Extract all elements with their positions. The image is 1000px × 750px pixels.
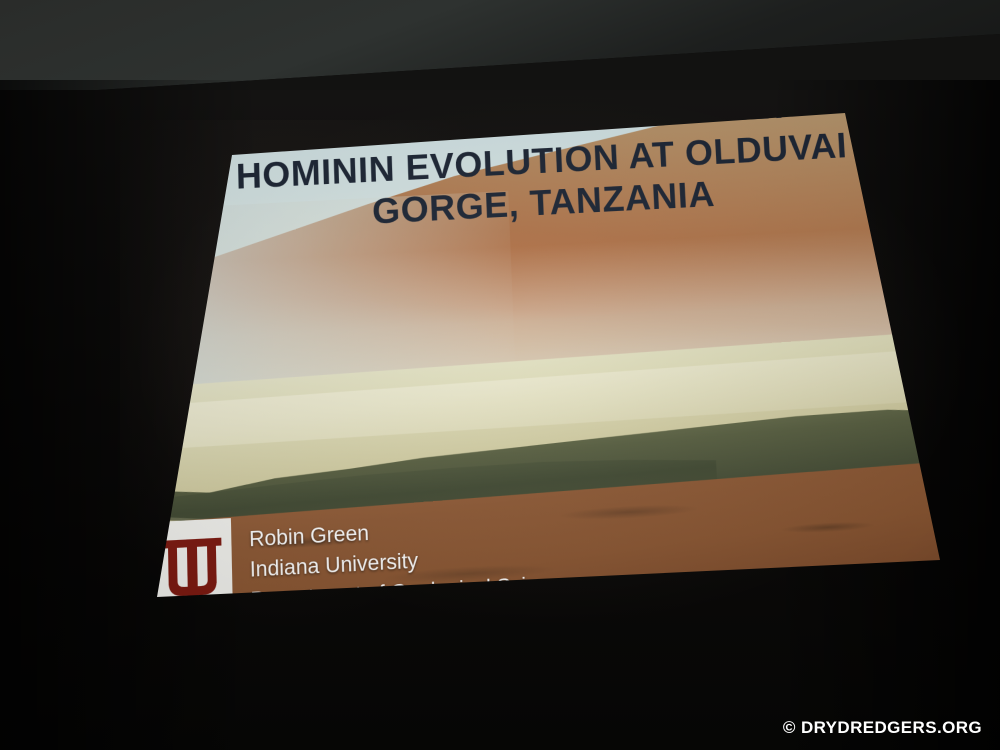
copyright-watermark: © DRYDREDGERS.ORG <box>783 718 982 738</box>
photo-scene: PALEOCLIMATE AND EARLY HOMININ EVOLUTION… <box>0 0 1000 750</box>
